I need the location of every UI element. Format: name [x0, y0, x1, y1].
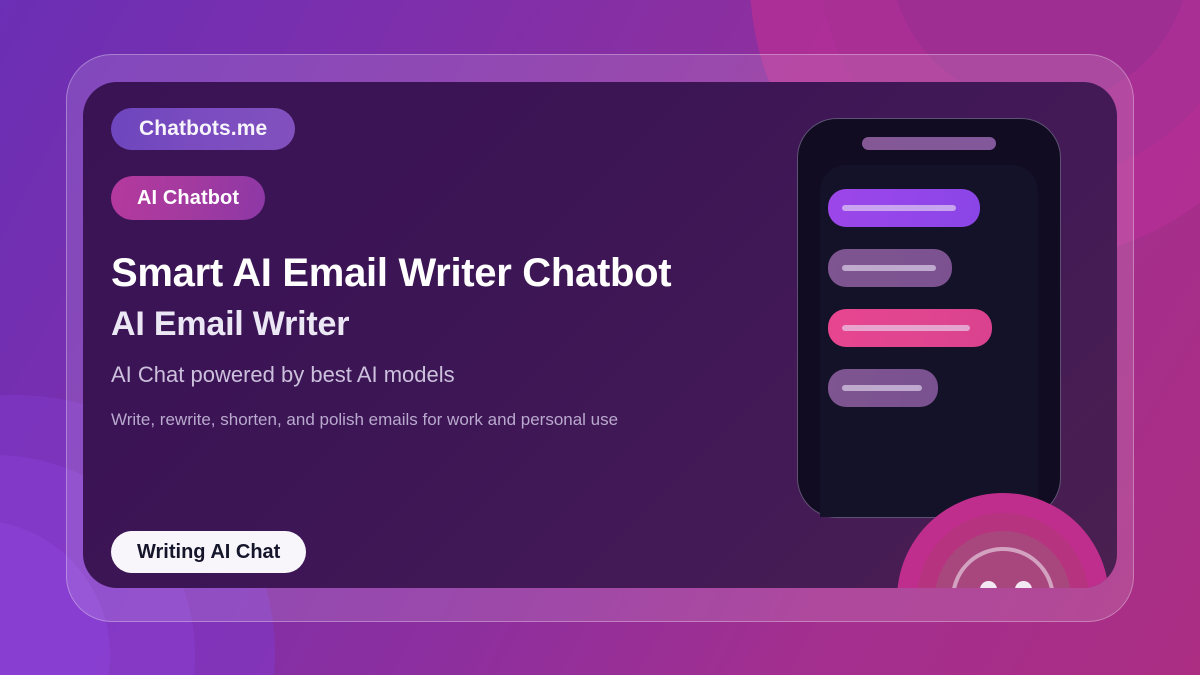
- hero-tagline: AI Chat powered by best AI models: [111, 362, 771, 388]
- phone-top-bar: [862, 137, 996, 150]
- chat-bubble-outgoing-primary: [828, 189, 980, 227]
- brand-badge[interactable]: Chatbots.me: [111, 108, 295, 150]
- chat-bubble-text-placeholder: [842, 385, 922, 391]
- phone-device-icon: [797, 118, 1061, 518]
- hero-description: Write, rewrite, shorten, and polish emai…: [111, 410, 771, 430]
- promo-banner: Chatbots.me AI Chatbot Smart AI Email Wr…: [0, 0, 1200, 675]
- cta-button[interactable]: Writing AI Chat: [111, 531, 306, 573]
- chat-bubble-text-placeholder: [842, 205, 956, 211]
- hero-content: Chatbots.me AI Chatbot Smart AI Email Wr…: [111, 108, 771, 430]
- hero-card: Chatbots.me AI Chatbot Smart AI Email Wr…: [83, 82, 1117, 588]
- chat-bubble-text-placeholder: [842, 265, 936, 271]
- page-subtitle: AI Email Writer: [111, 306, 771, 343]
- chat-bubble-outgoing-pink: [828, 309, 992, 347]
- category-badge[interactable]: AI Chatbot: [111, 176, 265, 220]
- chat-bubble-incoming-short: [828, 369, 938, 407]
- chat-bubble-incoming-muted: [828, 249, 952, 287]
- smiley-face-icon: [897, 493, 1109, 588]
- chat-bubble-text-placeholder: [842, 325, 970, 331]
- page-title: Smart AI Email Writer Chatbot: [111, 252, 771, 295]
- phone-screen: [820, 165, 1038, 517]
